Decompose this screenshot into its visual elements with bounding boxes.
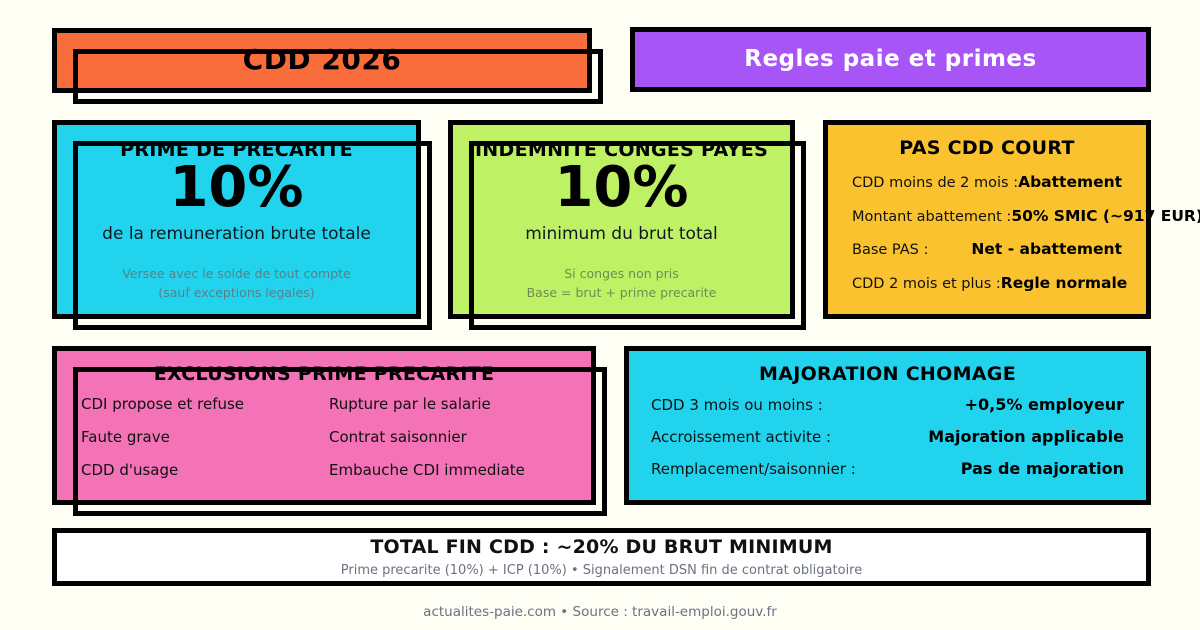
kv-value: Majoration applicable (928, 427, 1124, 446)
kv-label: CDD moins de 2 mois : (852, 175, 1018, 191)
note-line: Versee avec le solde de tout compte (122, 264, 350, 283)
kv-row: Remplacement/saisonnier : Pas de majorat… (651, 459, 1124, 478)
kv-row: Accroissement activite : Majoration appl… (651, 427, 1124, 446)
notes-indemnite-conges-payes: Si conges non pris Base = brut + prime p… (527, 264, 717, 303)
kv-label: Montant abattement : (852, 209, 1011, 225)
stat-value-indemnite-conges-payes: 10% (554, 159, 688, 218)
total-detail: Prime precarite (10%) + ICP (10%) • Sign… (341, 563, 863, 578)
card-majoration-chomage: MAJORATION CHOMAGE CDD 3 mois ou moins :… (624, 346, 1151, 505)
main-title-card: CDD 2026 (52, 28, 592, 93)
note-line: Base = brut + prime precarite (527, 283, 717, 302)
kv-value: Abattement (1018, 173, 1122, 191)
kv-row: CDD 3 mois ou moins : +0,5% employeur (651, 395, 1124, 414)
card-title-exclusions: EXCLUSIONS PRIME PRECARITE (75, 363, 573, 385)
subtitle-badge-card: Regles paie et primes (630, 27, 1151, 92)
kv-label: CDD 3 mois ou moins : (651, 396, 823, 414)
list-item: Faute grave (81, 423, 319, 451)
list-item: Contrat saisonnier (329, 423, 567, 451)
kv-label: CDD 2 mois et plus : (852, 276, 1001, 292)
kv-value: +0,5% employeur (965, 395, 1124, 414)
card-title-majoration-chomage: MAJORATION CHOMAGE (647, 363, 1128, 385)
total-headline: TOTAL FIN CDD : ~20% DU BRUT MINIMUM (370, 536, 832, 558)
page-title: CDD 2026 (243, 45, 402, 76)
list-item: Embauche CDI immediate (329, 456, 567, 484)
kv-row: CDD 2 mois et plus : Regle normale (852, 274, 1122, 292)
exclusions-list: CDI propose et refuse Rupture par le sal… (75, 387, 573, 494)
kv-list-majoration-chomage: CDD 3 mois ou moins : +0,5% employeur Ac… (647, 389, 1128, 490)
card-exclusions-prime-precarite: EXCLUSIONS PRIME PRECARITE CDI propose e… (52, 346, 596, 505)
stat-caption-indemnite-conges-payes: minimum du brut total (525, 224, 718, 244)
notes-prime-precarite: Versee avec le solde de tout compte (sau… (122, 264, 350, 303)
kv-value: Regle normale (1001, 274, 1128, 292)
list-item: CDI propose et refuse (81, 390, 319, 418)
list-item: CDD d'usage (81, 456, 319, 484)
card-indemnite-conges-payes: INDEMNITE CONGES PAYES 10% minimum du br… (448, 120, 795, 319)
kv-value: Net - abattement (971, 240, 1122, 258)
list-item: Rupture par le salarie (329, 390, 567, 418)
card-pas-cdd-court: PAS CDD COURT CDD moins de 2 mois : Abat… (823, 120, 1151, 319)
kv-value: Pas de majoration (961, 459, 1124, 478)
footer-source: actualites-paie.com • Source : travail-e… (0, 604, 1200, 620)
subtitle-badge-label: Regles paie et primes (744, 47, 1036, 72)
stat-value-prime-precarite: 10% (169, 159, 303, 218)
kv-row: Base PAS : Net - abattement (852, 240, 1122, 258)
infographic-page: CDD 2026 Regles paie et primes PRIME DE … (0, 0, 1200, 630)
note-line: Si conges non pris (527, 264, 717, 283)
total-summary-bar: TOTAL FIN CDD : ~20% DU BRUT MINIMUM Pri… (52, 528, 1151, 586)
kv-label: Remplacement/saisonnier : (651, 460, 856, 478)
stat-caption-prime-precarite: de la remuneration brute totale (102, 224, 371, 244)
kv-value: 50% SMIC (~917 EUR) (1011, 207, 1200, 225)
note-line: (sauf exceptions legales) (122, 283, 350, 302)
kv-row: Montant abattement : 50% SMIC (~917 EUR) (852, 207, 1122, 225)
kv-label: Base PAS : (852, 242, 928, 258)
card-prime-precarite: PRIME DE PRECARITE 10% de la remuneratio… (52, 120, 421, 319)
kv-row: CDD moins de 2 mois : Abattement (852, 173, 1122, 191)
card-title-pas-cdd-court: PAS CDD COURT (846, 137, 1128, 159)
kv-label: Accroissement activite : (651, 428, 831, 446)
kv-list-pas-cdd-court: CDD moins de 2 mois : Abattement Montant… (846, 163, 1128, 304)
